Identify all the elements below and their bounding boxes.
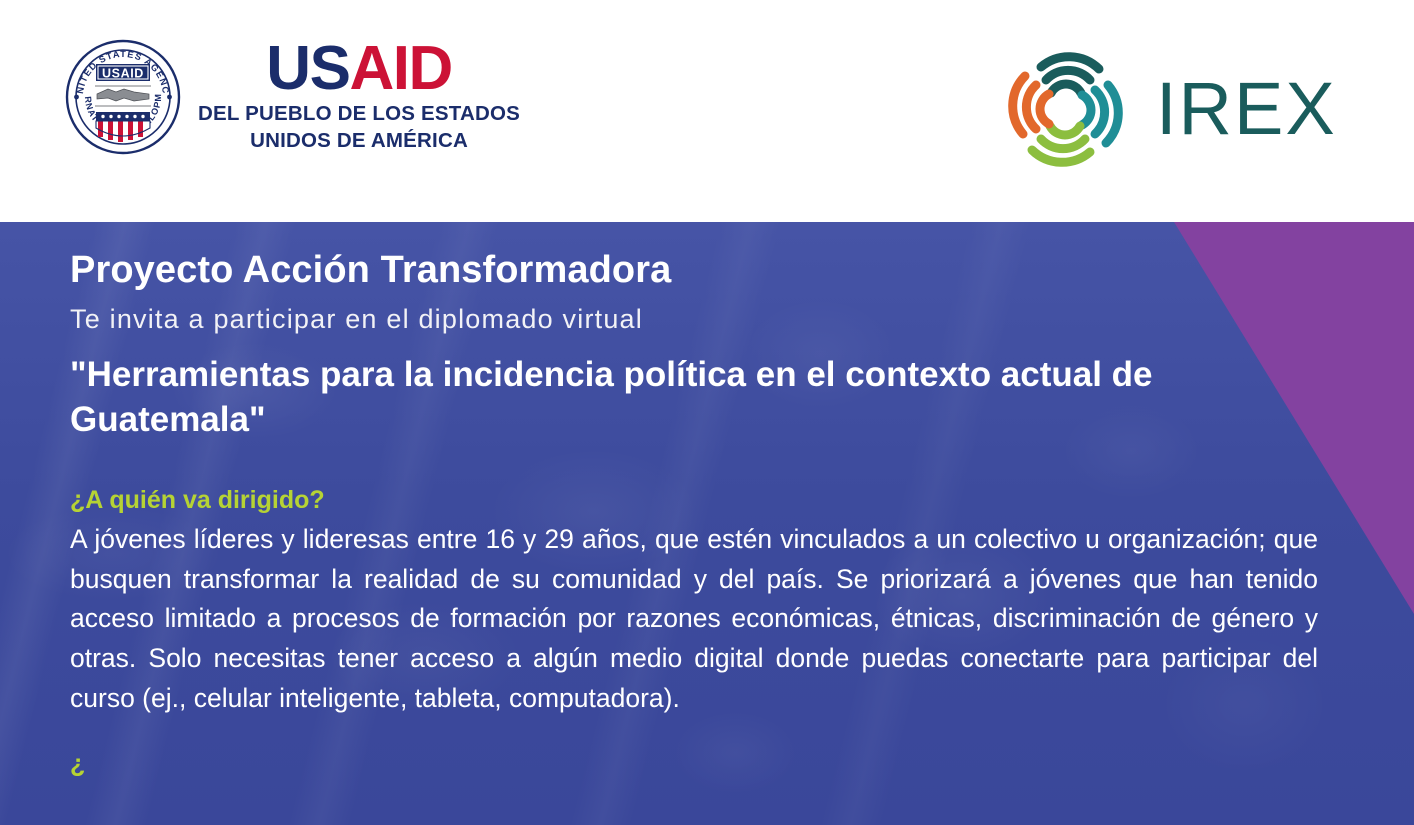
- announcement-content: Proyecto Acción Transformadora Te invita…: [0, 222, 1414, 825]
- usaid-tagline-line1: DEL PUEBLO DE LOS ESTADOS: [198, 101, 520, 127]
- irex-logo-lockup: IREX: [1002, 50, 1337, 168]
- next-section-heading-partial: ¿: [70, 751, 1318, 779]
- usaid-wordmark-us: US: [266, 34, 349, 103]
- invitation-subtitle: Te invita a participar en el diplomado v…: [70, 304, 1318, 335]
- course-title: "Herramientas para la incidencia polític…: [70, 353, 1190, 443]
- usaid-wordmark: USAID: [266, 40, 451, 97]
- svg-text:USAID: USAID: [102, 67, 144, 81]
- usaid-seal-icon: UNITED STATES AGENCY INTERNATIONAL DEVEL…: [64, 36, 182, 158]
- announcement-panel: Proyecto Acción Transformadora Te invita…: [0, 222, 1414, 825]
- usaid-wordmark-aid: AID: [349, 34, 451, 103]
- usaid-tagline-line2: UNIDOS DE AMÉRICA: [250, 128, 468, 154]
- project-title: Proyecto Acción Transformadora: [70, 250, 1318, 292]
- irex-wordmark: IREX: [1156, 72, 1337, 146]
- usaid-logo-lockup: UNITED STATES AGENCY INTERNATIONAL DEVEL…: [64, 36, 520, 158]
- usaid-wordmark-block: USAID DEL PUEBLO DE LOS ESTADOS UNIDOS D…: [198, 40, 520, 154]
- irex-pinwheel-icon: [1002, 50, 1130, 168]
- audience-paragraph: A jóvenes líderes y lideresas entre 16 y…: [70, 520, 1318, 719]
- audience-question-heading: ¿A quién va dirigido?: [70, 487, 1318, 515]
- page-header: UNITED STATES AGENCY INTERNATIONAL DEVEL…: [0, 0, 1414, 222]
